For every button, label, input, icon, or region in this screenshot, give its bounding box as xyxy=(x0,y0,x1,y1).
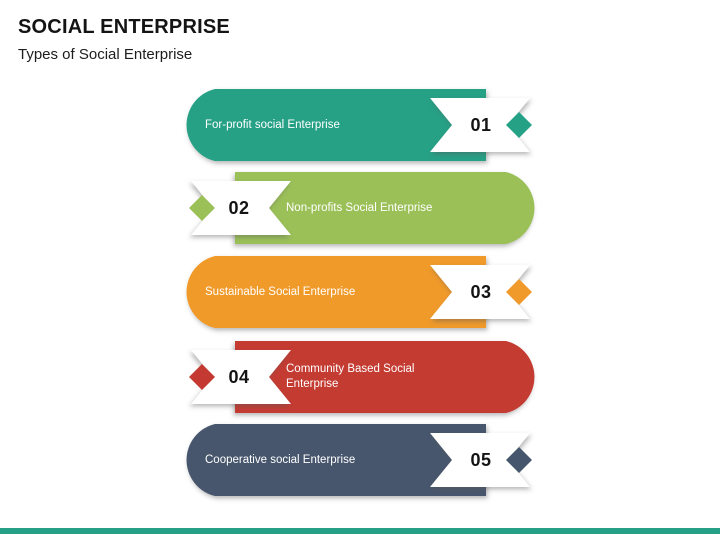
process-item[interactable]: Community Based Social Enterprise04 xyxy=(178,340,543,414)
process-item-graphic xyxy=(178,423,543,497)
process-item-graphic xyxy=(178,171,543,245)
process-item-graphic xyxy=(178,88,543,162)
process-item[interactable]: Sustainable Social Enterprise03 xyxy=(178,255,543,329)
types-of-social-enterprise-diagram: For-profit social Enterprise01Non-profit… xyxy=(0,0,720,540)
process-item[interactable]: Cooperative social Enterprise05 xyxy=(178,423,543,497)
process-item-graphic xyxy=(178,255,543,329)
process-item[interactable]: Non-profits Social Enterprise02 xyxy=(178,171,543,245)
process-item-graphic xyxy=(178,340,543,414)
footer-accent-bar xyxy=(0,528,720,534)
process-item[interactable]: For-profit social Enterprise01 xyxy=(178,88,543,162)
